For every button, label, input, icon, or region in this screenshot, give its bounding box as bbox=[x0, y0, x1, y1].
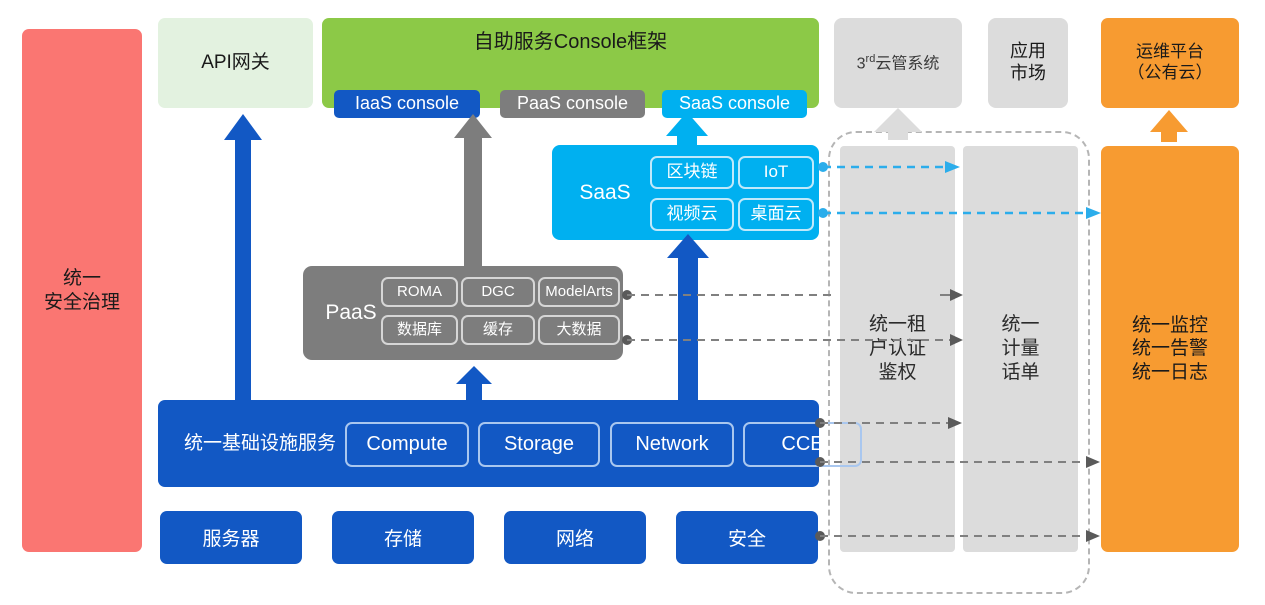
paas-service-cache[interactable]: 缓存 bbox=[461, 315, 535, 345]
arrow-into-ops-platform bbox=[1150, 110, 1188, 142]
arrow-iaas-to-api-gateway bbox=[224, 114, 262, 400]
paas-service-database[interactable]: 数据库 bbox=[381, 315, 458, 345]
paas-service-roma[interactable]: ROMA bbox=[381, 277, 458, 307]
unified-metering-billing-column[interactable]: 统一 计量 话单 bbox=[963, 146, 1078, 552]
paas-layer-box[interactable]: PaaS ROMA DGC ModelArts 数据库 缓存 大数据 bbox=[303, 266, 623, 360]
ops-top-line-2: （公有云） bbox=[1128, 63, 1213, 84]
ops-platform-public-cloud-box[interactable]: 运维平台 （公有云） bbox=[1101, 18, 1239, 108]
ops-panel-text: 统一监控 统一告警 统一日志 bbox=[1132, 314, 1208, 384]
paas-layer-label: PaaS bbox=[315, 266, 387, 360]
iaas-layer-label: 统一基础设施服务 bbox=[176, 400, 344, 487]
gcol1-text: 统一 计量 话单 bbox=[1001, 313, 1039, 384]
security-panel-text: 统一 安全治理 bbox=[44, 267, 120, 313]
gcol1-line-1: 统一 bbox=[1001, 313, 1039, 337]
api-gateway-label: API网关 bbox=[201, 51, 270, 74]
app-market-text: 应用 市场 bbox=[1010, 41, 1046, 85]
unified-security-governance-panel[interactable]: 统一 安全治理 bbox=[22, 29, 142, 552]
arrow-iaas-to-paas bbox=[456, 366, 492, 400]
ops-panel-line-2: 统一告警 bbox=[1132, 337, 1208, 360]
ops-panel-line-1: 统一监控 bbox=[1132, 314, 1208, 337]
infra-item-server[interactable]: 服务器 bbox=[160, 511, 302, 564]
iaas-service-compute[interactable]: Compute bbox=[345, 422, 469, 467]
paas-service-dgc[interactable]: DGC bbox=[461, 277, 535, 307]
saas-layer-box[interactable]: SaaS 区块链 IoT 视频云 桌面云 bbox=[552, 145, 819, 240]
third-party-cloud-management-box[interactable]: 3rd云管系统 bbox=[834, 18, 962, 108]
iaas-layer-box[interactable]: 统一基础设施服务 Compute Storage Network CCE bbox=[158, 400, 819, 487]
saas-layer-label: SaaS bbox=[566, 145, 644, 240]
console-frame-title: 自助服务Console框架 bbox=[322, 18, 819, 66]
arrow-paas-to-console bbox=[454, 114, 492, 266]
gcol0-line-3: 鉴权 bbox=[869, 361, 926, 385]
iaas-console-pill[interactable]: IaaS console bbox=[334, 90, 480, 118]
gcol0-line-1: 统一租 bbox=[869, 313, 926, 337]
infra-item-network[interactable]: 网络 bbox=[504, 511, 646, 564]
unified-monitoring-panel[interactable]: 统一监控 统一告警 统一日志 bbox=[1101, 146, 1239, 552]
paas-service-modelarts[interactable]: ModelArts bbox=[538, 277, 620, 307]
iaas-service-cce[interactable]: CCE bbox=[743, 422, 862, 467]
architecture-diagram: 统一 安全治理 API网关 自助服务Console框架 IaaS console… bbox=[0, 0, 1265, 605]
arrow-iaas-to-saas bbox=[667, 234, 709, 400]
iaas-service-network[interactable]: Network bbox=[610, 422, 734, 467]
saas-console-pill[interactable]: SaaS console bbox=[662, 90, 807, 118]
app-market-box[interactable]: 应用 市场 bbox=[988, 18, 1068, 108]
security-line-1: 统一 bbox=[44, 267, 120, 290]
app-market-line-2: 市场 bbox=[1010, 63, 1046, 85]
ops-panel-line-3: 统一日志 bbox=[1132, 361, 1208, 384]
gcol0-line-2: 户认证 bbox=[869, 337, 926, 361]
saas-service-desktop-cloud[interactable]: 桌面云 bbox=[738, 198, 814, 231]
paas-console-pill[interactable]: PaaS console bbox=[500, 90, 645, 118]
third-party-label: 3rd云管系统 bbox=[857, 53, 940, 74]
third-party-text: 云管系统 bbox=[875, 55, 939, 72]
api-gateway-box[interactable]: API网关 bbox=[158, 18, 313, 108]
saas-service-video-cloud[interactable]: 视频云 bbox=[650, 198, 734, 231]
gcol1-line-3: 话单 bbox=[1001, 361, 1039, 385]
self-service-console-frame[interactable]: 自助服务Console框架 IaaS console PaaS console … bbox=[322, 18, 819, 108]
saas-service-iot[interactable]: IoT bbox=[738, 156, 814, 189]
iaas-service-storage[interactable]: Storage bbox=[478, 422, 600, 467]
third-party-number: 3 bbox=[857, 55, 866, 72]
ops-top-line-1: 运维平台 bbox=[1128, 42, 1213, 63]
link-paas-to-tenant-auth bbox=[622, 290, 836, 300]
third-party-ordinal: rd bbox=[866, 53, 876, 65]
infra-item-storage[interactable]: 存储 bbox=[332, 511, 474, 564]
paas-service-bigdata[interactable]: 大数据 bbox=[538, 315, 620, 345]
gcol0-text: 统一租 户认证 鉴权 bbox=[869, 313, 926, 384]
infra-item-security[interactable]: 安全 bbox=[676, 511, 818, 564]
saas-service-blockchain[interactable]: 区块链 bbox=[650, 156, 734, 189]
app-market-line-1: 应用 bbox=[1010, 41, 1046, 63]
ops-top-text: 运维平台 （公有云） bbox=[1128, 42, 1213, 83]
gcol1-line-2: 计量 bbox=[1001, 337, 1039, 361]
unified-tenant-auth-column[interactable]: 统一租 户认证 鉴权 bbox=[840, 146, 955, 552]
security-line-2: 安全治理 bbox=[44, 291, 120, 314]
